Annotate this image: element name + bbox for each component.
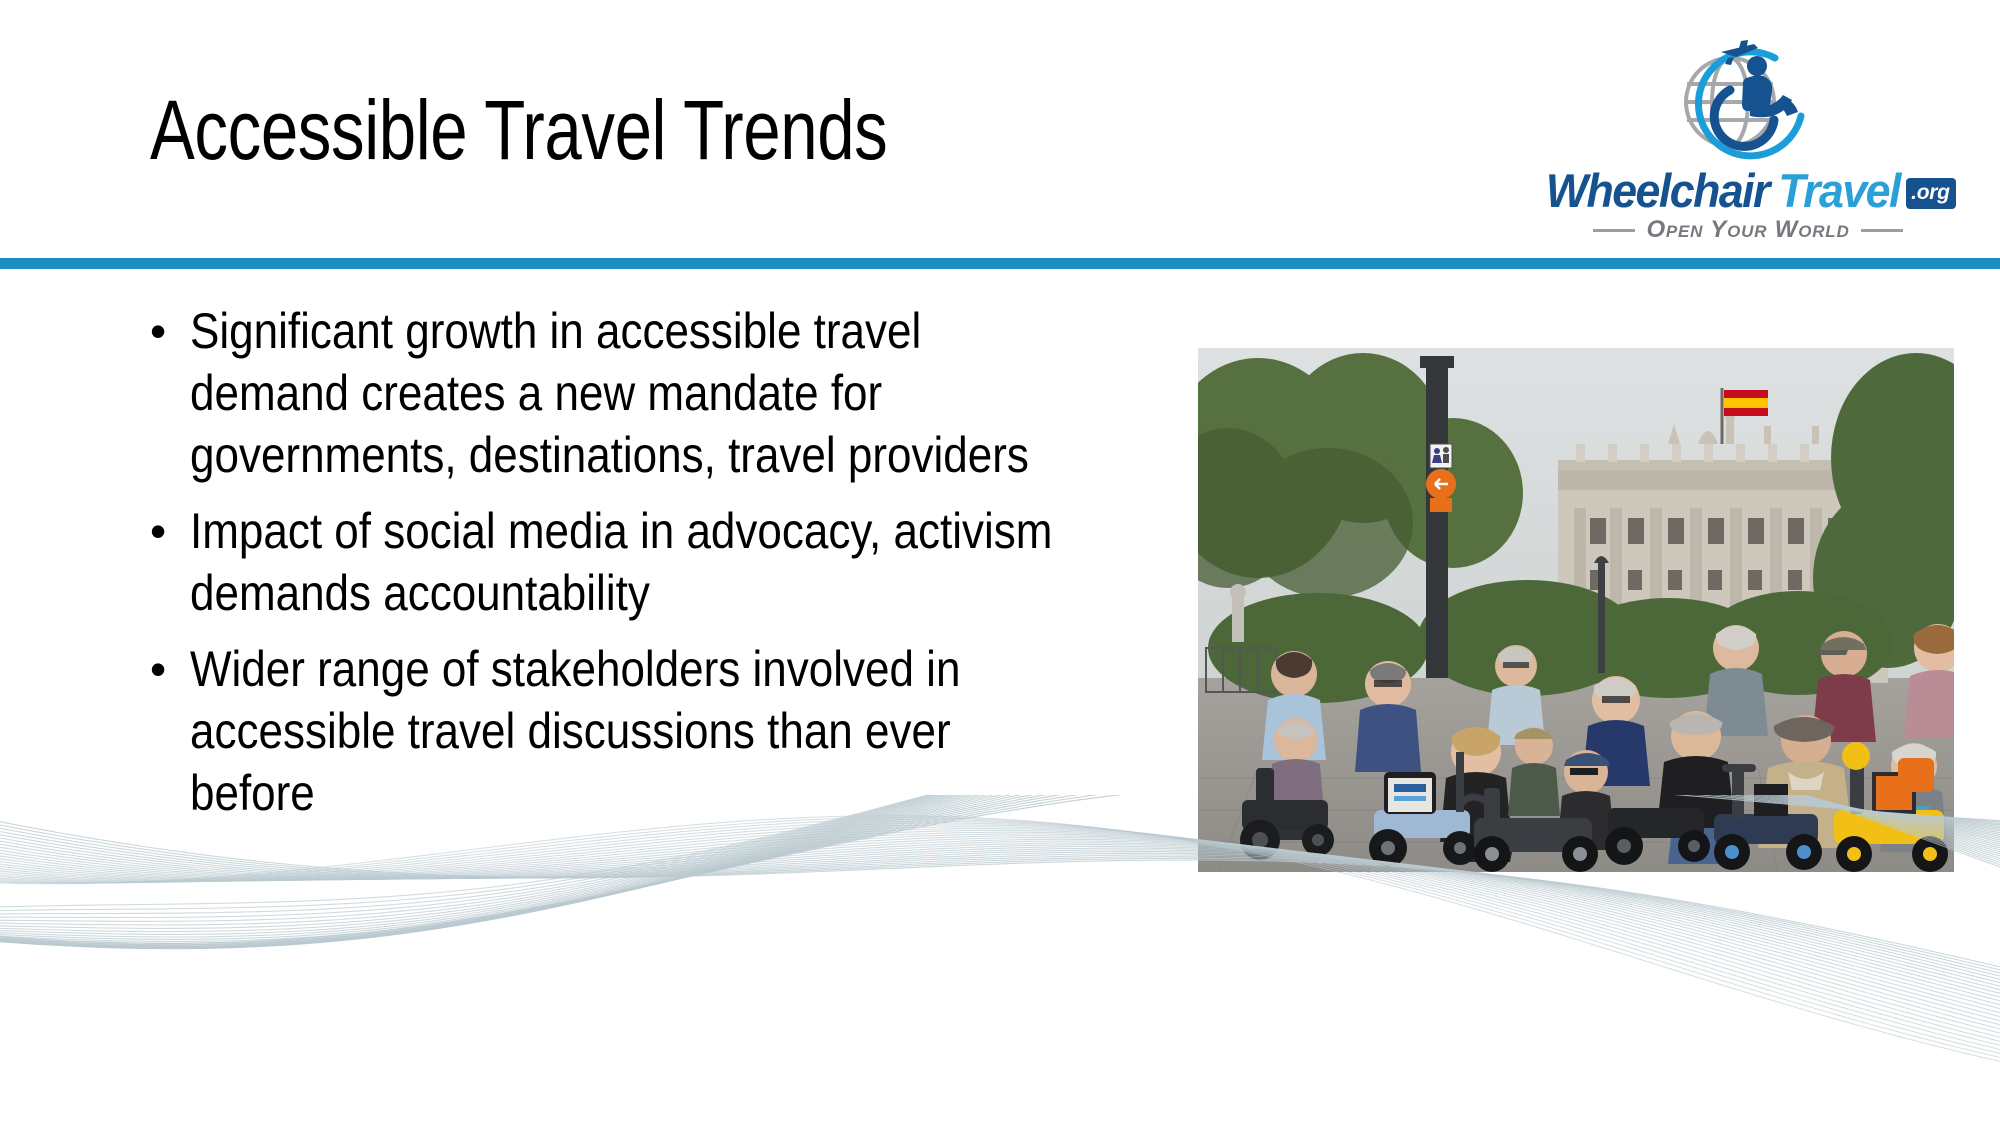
page-title: Accessible Travel Trends <box>150 88 887 174</box>
bullet-marker-icon: • <box>150 638 190 700</box>
logo-org-badge: .org <box>1906 178 1955 209</box>
bullet-text: Impact of social media in advocacy, acti… <box>190 500 1052 624</box>
tagline-rule-right <box>1861 229 1903 232</box>
group-tour-photo <box>1198 348 1954 872</box>
list-item: • Wider range of stakeholders involved i… <box>150 638 1170 824</box>
tagline-rule-left <box>1593 229 1635 232</box>
bullet-marker-icon: • <box>150 300 190 362</box>
globe-wheelchair-icon <box>1658 38 1833 168</box>
list-item: • Significant growth in accessible trave… <box>150 300 1170 486</box>
tagline-text: Open Your World <box>1646 216 1849 244</box>
bullet-text: Wider range of stakeholders involved in … <box>190 638 1052 824</box>
logo-wordmark-secondary: Travel <box>1778 167 1900 214</box>
presentation-slide: Accessible Travel Trends <box>0 0 2000 1125</box>
list-item: • Impact of social media in advocacy, ac… <box>150 500 1170 624</box>
bullet-list: • Significant growth in accessible trave… <box>150 300 1170 838</box>
bullet-text: Significant growth in accessible travel … <box>190 300 1052 486</box>
brand-logo: WheelchairTravel.org Open Your World <box>1548 38 1948 248</box>
title-divider <box>0 258 2000 269</box>
logo-wordmark: WheelchairTravel.org <box>1548 164 1948 214</box>
logo-wordmark-primary: Wheelchair <box>1546 167 1769 214</box>
bullet-marker-icon: • <box>150 500 190 562</box>
logo-tagline: Open Your World <box>1548 216 1948 244</box>
